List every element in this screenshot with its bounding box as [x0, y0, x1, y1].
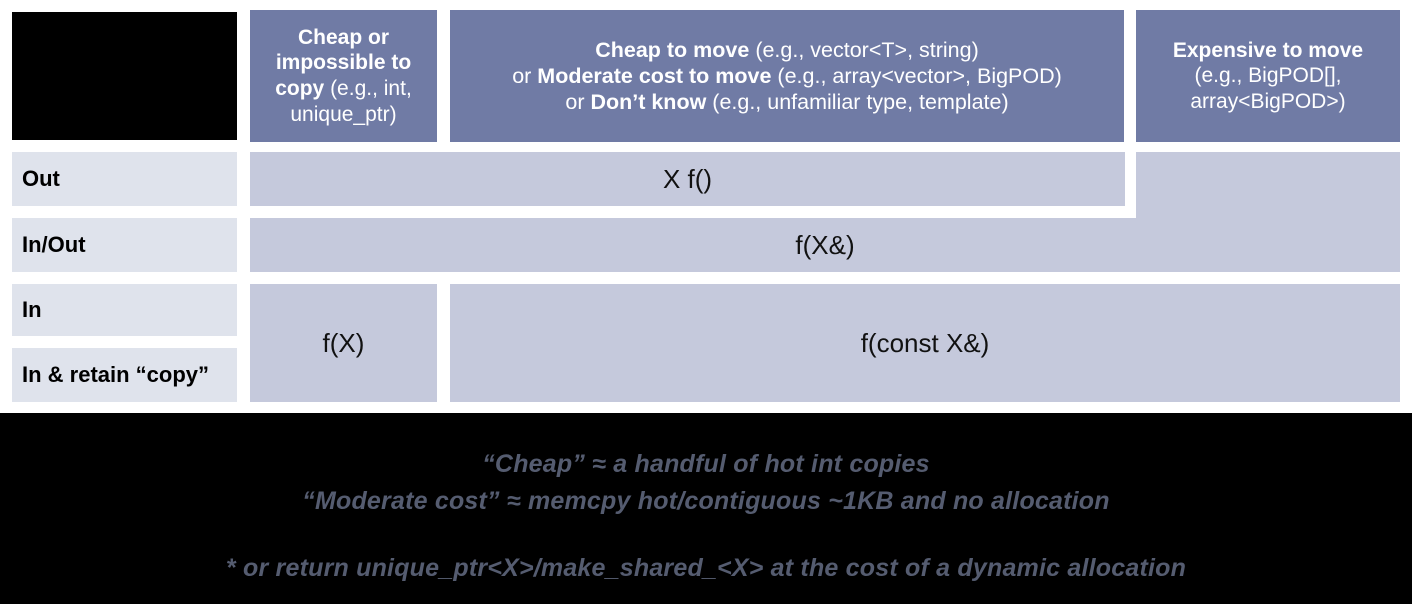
header2-line-3-bold: Don’t know: [590, 90, 706, 114]
row-label-in-retain-copy: In & retain “copy”: [12, 348, 237, 402]
cell-in-f-const-x-ref: f(const X&): [450, 284, 1400, 402]
blank-corner-block: [12, 12, 237, 140]
cell-out-expensive-empty: [1136, 152, 1400, 218]
header2-line-2-plain: (e.g., array<vector>, BigPOD): [771, 64, 1061, 88]
cell-in-f-x: f(X): [250, 284, 437, 402]
header3-line-2-plain: (e.g., BigPOD[],: [1194, 64, 1341, 87]
header2-line-2-bold: Moderate cost to move: [537, 64, 771, 88]
header-line-3-plain: (e.g., int,: [324, 77, 412, 100]
header2-line-2-prefix: or: [512, 64, 537, 88]
column-header-expensive-to-move: Expensive to move (e.g., BigPOD[], array…: [1136, 10, 1400, 142]
header-line-1-bold: Cheap or: [298, 26, 389, 49]
header2-line-3-prefix: or: [565, 90, 590, 114]
header3-line-3-plain: array<BigPOD>): [1190, 90, 1345, 113]
footnote-moderate-cost-definition: “Moderate cost” ≈ memcpy hot/contiguous …: [0, 487, 1412, 516]
matrix-slide: Cheap or impossible to copy (e.g., int, …: [0, 0, 1412, 604]
footnote-cheap-definition: “Cheap” ≈ a handful of hot int copies: [0, 450, 1412, 479]
cell-out-x-f: X f(): [250, 152, 1125, 206]
row-label-out: Out: [12, 152, 237, 206]
header2-line-1-plain: (e.g., vector<T>, string): [749, 38, 978, 62]
column-header-cheap-or-impossible-to-copy: Cheap or impossible to copy (e.g., int, …: [250, 10, 437, 142]
header2-line-3-plain: (e.g., unfamiliar type, template): [706, 90, 1008, 114]
row-label-in-out: In/Out: [12, 218, 237, 272]
footnote-star-unique-ptr: * or return unique_ptr<X>/make_shared_<X…: [0, 554, 1412, 583]
header3-line-1-bold: Expensive to move: [1173, 39, 1363, 62]
cell-in-out-f-x-ref: f(X&): [250, 218, 1400, 272]
header2-line-1-bold: Cheap to move: [595, 38, 749, 62]
header-line-4-plain: unique_ptr): [290, 103, 396, 126]
header-line-3-bold: copy: [275, 77, 324, 100]
column-header-cheap-or-moderate-or-dont-know: Cheap to move (e.g., vector<T>, string) …: [450, 10, 1124, 142]
header-line-2-bold: impossible to: [276, 51, 411, 74]
row-label-in: In: [12, 284, 237, 336]
